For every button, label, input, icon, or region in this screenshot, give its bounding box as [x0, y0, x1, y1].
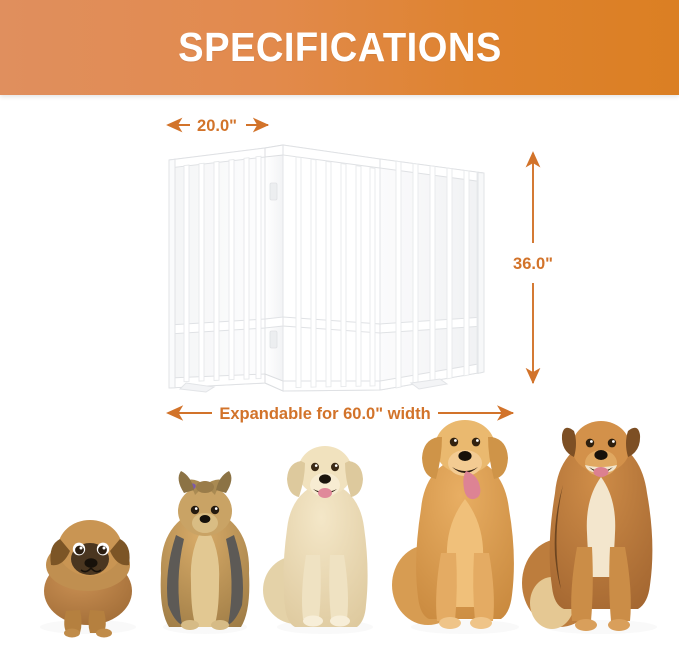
dog-shepherd-mix	[522, 421, 657, 634]
dog-golden-retriever	[392, 420, 519, 634]
specifications-banner: SPECIFICATIONS	[0, 0, 679, 95]
gate-height-label: 36.0"	[513, 255, 553, 273]
page-title: SPECIFICATIONS	[178, 24, 502, 71]
dog-yorkshire-terrier	[161, 471, 250, 634]
annotation-panel-width: 20.0"	[168, 117, 268, 135]
gate-panel-middle	[265, 145, 283, 391]
gate-panel-center	[283, 145, 380, 391]
panel-width-label: 20.0"	[197, 117, 237, 135]
dog-labrador	[263, 446, 373, 634]
product-diagram: 20.0" 36.0" Expandable for 60.0" width	[0, 95, 679, 435]
gate-panel-right	[380, 159, 484, 390]
dog-size-row	[0, 415, 679, 653]
gate-panel-left	[169, 148, 265, 392]
annotation-gate-height: 36.0"	[513, 153, 553, 383]
dog-pekingese-puppy	[40, 520, 136, 638]
